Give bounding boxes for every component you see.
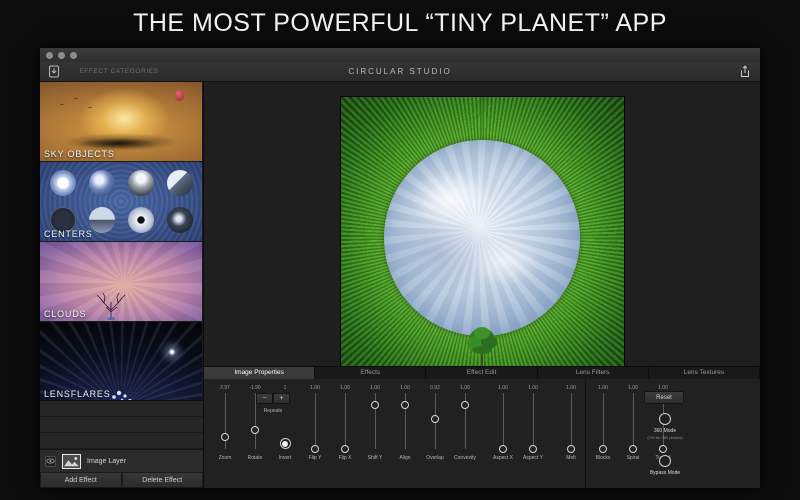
slider-knob[interactable]	[311, 445, 319, 453]
slider-knob[interactable]	[221, 433, 229, 441]
slider-label: Rotate	[240, 455, 270, 461]
sphere-thumb[interactable]	[128, 207, 154, 233]
slider-track[interactable]	[255, 393, 256, 449]
tab-effects[interactable]: Effects	[315, 367, 426, 379]
tree-icon	[461, 320, 503, 366]
category-label: SKY OBJECTS	[44, 149, 115, 159]
slider-label: Zoom	[210, 455, 240, 461]
slider-invert[interactable]: 1Invert	[270, 385, 300, 461]
slider-knob[interactable]	[401, 401, 409, 409]
slider-value: 1.00	[390, 385, 420, 392]
slider-aspect-y[interactable]: 1.00Aspect Y	[518, 385, 548, 461]
slider-label: Convexity	[450, 455, 480, 461]
slider-label: Flip X	[330, 455, 360, 461]
reset-button[interactable]: Reset	[644, 391, 684, 404]
sphere-thumb[interactable]	[167, 170, 193, 196]
category-clouds[interactable]: CLOUDS	[40, 242, 202, 321]
sidebar: SKY OBJECTS CENTERS	[40, 82, 204, 488]
slider-value: -1.90	[240, 385, 270, 392]
slider-knob[interactable]	[341, 445, 349, 453]
panel-controls: − + Repeats 2.97Zoom-1.90Rotate1Invert1.…	[204, 379, 760, 488]
app-toolbar: EFFECT CATEGORIES CIRCULAR STUDIO	[40, 62, 760, 82]
slider-value: 2.97	[210, 385, 240, 392]
right-controls: Reset 360 Mode (ON for 360 photos) Bypas…	[586, 379, 760, 488]
slider-label: Shift Y	[360, 455, 390, 461]
centers-sphere-grid	[44, 165, 198, 238]
sky-sphere	[384, 140, 580, 336]
tiny-planet-image[interactable]	[340, 96, 625, 379]
mode-bypass-label: Bypass Mode	[642, 470, 688, 476]
slider-label: Align	[390, 455, 420, 461]
close-button[interactable]	[46, 52, 53, 59]
category-label: CLOUDS	[44, 309, 86, 319]
sphere-thumb[interactable]	[89, 170, 115, 196]
image-thumbnail-icon[interactable]	[62, 454, 81, 469]
slider-value: 1.00	[488, 385, 518, 392]
slider-knob[interactable]	[461, 401, 469, 409]
slider-melt[interactable]: 1.00Melt	[556, 385, 586, 461]
slider-knob[interactable]	[431, 415, 439, 423]
layer-row[interactable]: Image Layer	[40, 449, 203, 472]
mode-360-label: 360 Mode	[642, 428, 688, 434]
slider-value: 1.00	[556, 385, 586, 392]
slider-align[interactable]: 1.00Align	[390, 385, 420, 461]
slider-track[interactable]	[503, 393, 504, 449]
slider-overlap[interactable]: 0.92Overlap	[420, 385, 450, 461]
mode-bypass-toggle[interactable]	[659, 455, 671, 467]
slider-track[interactable]	[315, 393, 316, 449]
layer-buttons: Add Effect Delete Effect	[40, 472, 203, 488]
slider-label: Melt	[556, 455, 586, 461]
app-title: CIRCULAR STUDIO	[40, 67, 760, 76]
minimize-button[interactable]	[58, 52, 65, 59]
slider-zoom[interactable]: 2.97Zoom	[210, 385, 240, 461]
slider-bank: − + Repeats 2.97Zoom-1.90Rotate1Invert1.…	[204, 379, 586, 488]
slider-track[interactable]	[405, 393, 406, 449]
layer-empty-row	[40, 417, 203, 433]
slider-knob[interactable]	[251, 426, 259, 434]
slider-knob[interactable]	[371, 401, 379, 409]
slider-label: Aspect X	[488, 455, 518, 461]
slider-track[interactable]	[571, 393, 572, 449]
category-label: CENTERS	[44, 229, 93, 239]
slider-value: 1.00	[360, 385, 390, 392]
slider-track[interactable]	[533, 393, 534, 449]
slider-value: 0.92	[420, 385, 450, 392]
properties-panel: Image Properties Effects Effect Edit Len…	[204, 366, 760, 488]
slider-track[interactable]	[225, 393, 226, 449]
invert-radio-knob[interactable]	[280, 438, 291, 449]
mode-360[interactable]: 360 Mode (ON for 360 photos)	[642, 413, 688, 440]
slider-label: Aspect Y	[518, 455, 548, 461]
slider-label: Overlap	[420, 455, 450, 461]
eye-icon[interactable]	[45, 456, 56, 467]
slider-track[interactable]	[375, 393, 376, 449]
tab-lens-filters[interactable]: Lens Filters	[538, 367, 649, 379]
category-centers[interactable]: CENTERS	[40, 162, 202, 241]
slider-label: Invert	[270, 455, 300, 461]
sphere-thumb[interactable]	[167, 207, 193, 233]
category-label: LENSFLARES	[44, 389, 111, 399]
mode-bypass[interactable]: Bypass Mode	[642, 455, 688, 476]
sphere-thumb[interactable]	[50, 170, 76, 196]
window-body: SKY OBJECTS CENTERS	[40, 82, 760, 488]
mode-360-sublabel: (ON for 360 photos)	[642, 435, 688, 440]
sphere-thumb[interactable]	[128, 170, 154, 196]
layer-empty-row	[40, 401, 203, 417]
slider-value: 1.00	[518, 385, 548, 392]
tab-image-properties[interactable]: Image Properties	[204, 367, 315, 379]
slider-value: 1	[270, 385, 300, 392]
tree-silhouette-icon	[94, 290, 128, 320]
slider-shift-y[interactable]: 1.00Shift Y	[360, 385, 390, 461]
mode-360-toggle[interactable]	[659, 413, 671, 425]
slider-flip-x[interactable]: 1.00Flip X	[330, 385, 360, 461]
tab-lens-textures[interactable]: Lens Textures	[649, 367, 760, 379]
slider-convexity[interactable]: 1.00Convexity	[450, 385, 480, 461]
delete-effect-button[interactable]: Delete Effect	[122, 472, 204, 488]
flare-dot-icon	[168, 348, 176, 356]
invert-radio-fill	[282, 441, 288, 447]
slider-aspect-x[interactable]: 1.00Aspect X	[488, 385, 518, 461]
slider-track[interactable]	[435, 393, 436, 449]
slider-value: 1.00	[330, 385, 360, 392]
layer-panel: Image Layer Add Effect Delete Effect	[40, 400, 203, 488]
slider-knob[interactable]	[567, 445, 575, 453]
balloon-icon	[175, 90, 184, 101]
app-window: EFFECT CATEGORIES CIRCULAR STUDIO SKY OB	[40, 48, 760, 488]
maximize-button[interactable]	[70, 52, 77, 59]
slider-rotate[interactable]: -1.90Rotate	[240, 385, 270, 461]
effect-category-list[interactable]: SKY OBJECTS CENTERS	[40, 82, 203, 400]
slider-track[interactable]	[465, 393, 466, 449]
tab-effect-edit[interactable]: Effect Edit	[426, 367, 537, 379]
slider-label: Flip Y	[300, 455, 330, 461]
share-icon[interactable]	[739, 65, 751, 78]
slider-value: 1.00	[450, 385, 480, 392]
category-lensflares[interactable]: LENSFLARES	[40, 322, 202, 400]
slider-flip-y[interactable]: 1.00Flip Y	[300, 385, 330, 461]
add-effect-button[interactable]: Add Effect	[40, 472, 122, 488]
panel-tabbar: Image Properties Effects Effect Edit Len…	[204, 367, 760, 379]
category-sky-objects[interactable]: SKY OBJECTS	[40, 82, 202, 161]
layer-empty-row	[40, 433, 203, 449]
window-titlebar	[40, 48, 760, 62]
slider-value: 1.00	[300, 385, 330, 392]
window-traffic-lights	[46, 52, 77, 59]
slider-knob[interactable]	[499, 445, 507, 453]
layer-name: Image Layer	[87, 458, 126, 465]
slider-track[interactable]	[345, 393, 346, 449]
slider-knob[interactable]	[529, 445, 537, 453]
page-headline: THE MOST POWERFUL “TINY PLANET” APP	[0, 0, 800, 46]
